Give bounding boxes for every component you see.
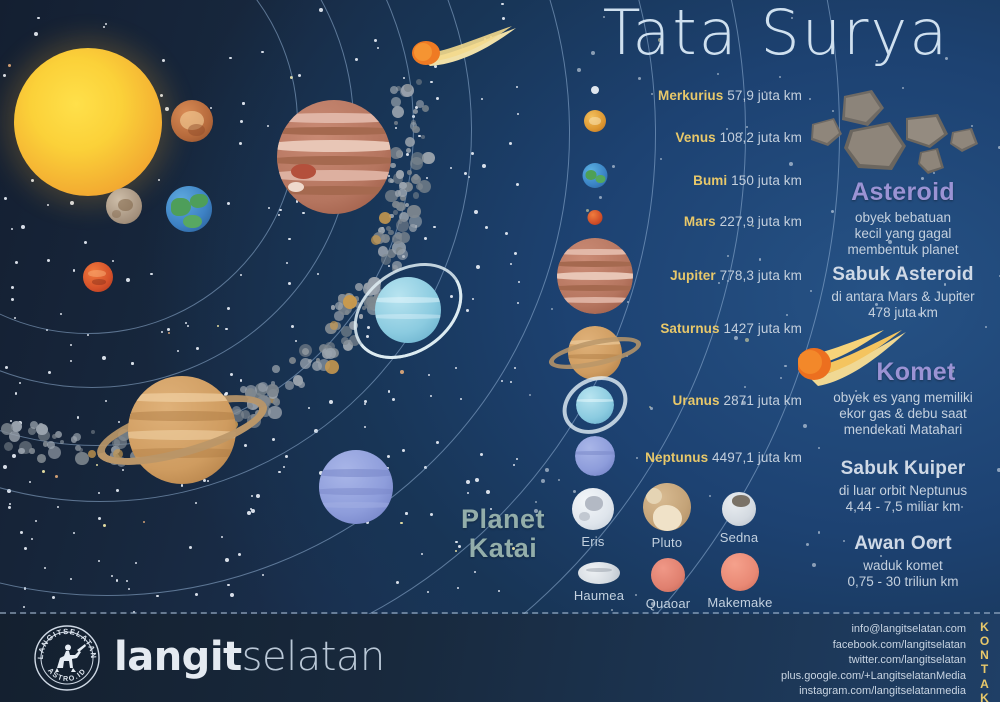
dwarf-planet-heading: Planet Katai (438, 505, 568, 563)
section-line: mendekati Matahari (806, 422, 1000, 438)
dwarf-eris: Eris (562, 488, 624, 549)
dwarf-body (572, 488, 614, 530)
section-heading: Asteroid (806, 178, 1000, 207)
planet-name: Bumi (693, 173, 727, 188)
planet-row-venus: Venus 108,2 juta km (676, 130, 803, 145)
planet-name: Saturnus (660, 321, 719, 336)
section-line: kecil yang gagal (806, 226, 1000, 242)
section-heading: Sabuk Kuiper (806, 458, 1000, 480)
map-planet-neptune (319, 450, 393, 524)
planet-name: Mars (684, 214, 716, 229)
dwarf-body (721, 553, 759, 591)
planet-distance: 1427 juta km (724, 321, 803, 336)
planet-distance: 4497,1 juta km (712, 450, 802, 465)
planet-name: Merkurius (658, 88, 723, 103)
scale-venus (584, 110, 606, 132)
dwarf-body (722, 492, 756, 526)
section-heading: Komet (832, 358, 1000, 387)
planet-scale-column (540, 78, 650, 498)
planet-distance: 108,2 juta km (720, 130, 802, 145)
comet-illustration-map (412, 22, 524, 68)
footer-divider (0, 612, 1000, 614)
dwarf-label: Haumea (566, 588, 632, 603)
dwarf-label: Eris (562, 534, 624, 549)
map-planet-saturn-group (128, 376, 236, 484)
map-planet-earth (166, 186, 212, 232)
great-red-spot (291, 164, 316, 179)
section-line: 0,75 - 30 triliun km (806, 574, 1000, 590)
map-planet-uranus-group (375, 277, 441, 343)
dwarf-quaoar: Quaoar (636, 558, 700, 611)
scale-uranus-ring (552, 365, 638, 446)
scale-earth (583, 163, 608, 188)
planet-row-saturnus: Saturnus 1427 juta km (660, 321, 802, 336)
section-awan-oort: Awan Oort waduk komet 0,75 - 30 triliun … (806, 533, 1000, 590)
planet-row-merkurius: Merkurius 57,9 juta km (658, 88, 802, 103)
sun-illustration (14, 48, 162, 196)
dwarf-label: Makemake (702, 595, 778, 610)
dwarf-body (651, 558, 685, 592)
section-heading: Awan Oort (806, 533, 1000, 555)
section-heading: Sabuk Asteroid (806, 264, 1000, 286)
planet-row-neptunus: Neptunus 4497,1 juta km (645, 450, 802, 465)
contact-facebook[interactable]: facebook.com/langitselatan (781, 638, 966, 654)
contact-email[interactable]: info@langitselatan.com (781, 622, 966, 638)
dwarf-haumea: Haumea (566, 562, 632, 603)
contact-list: info@langitselatan.com facebook.com/lang… (781, 622, 966, 700)
section-line: di antara Mars & Jupiter (806, 289, 1000, 305)
planet-name: Uranus (673, 393, 720, 408)
planet-name: Venus (676, 130, 716, 145)
brand-light: selatan (242, 634, 385, 680)
planet-distance: 778,3 juta km (720, 268, 802, 283)
kontak-vertical-label: KONTAK (976, 620, 994, 702)
section-line: di luar orbit Neptunus (806, 483, 1000, 499)
brand-wordmark: langitselatan (114, 634, 385, 680)
contact-twitter[interactable]: twitter.com/langitselatan (781, 653, 966, 669)
section-komet: Komet obyek es yang memiliki ekor gas & … (806, 358, 1000, 438)
scale-mars (588, 210, 603, 225)
section-line: obyek bebatuan (806, 210, 1000, 226)
map-planet-venus (171, 100, 213, 142)
planet-row-uranus: Uranus 2871 juta km (673, 393, 802, 408)
map-planet-jupiter (277, 100, 391, 214)
dwarf-pluto: Pluto (634, 483, 700, 550)
infographic-poster: Merkurius 57,9 juta km Venus 108,2 juta … (0, 0, 1000, 702)
section-line: 478 juta km (806, 305, 1000, 321)
planet-row-jupiter: Jupiter 778,3 juta km (670, 268, 802, 283)
dwarf-heading-line2: Katai (438, 534, 568, 563)
scale-neptune (575, 436, 615, 476)
planet-distance: 150 juta km (731, 173, 802, 188)
planet-distance: 57,9 juta km (727, 88, 802, 103)
section-sabuk-asteroid: Sabuk Asteroid di antara Mars & Jupiter … (806, 264, 1000, 321)
planet-distance: 227,9 juta km (720, 214, 802, 229)
dwarf-body (643, 483, 691, 531)
section-line: waduk komet (806, 558, 1000, 574)
map-planet-mars (83, 262, 113, 292)
svg-text:ASTRO.ID: ASTRO.ID (46, 666, 88, 683)
section-line: 4,44 - 7,5 miliar km (806, 499, 1000, 515)
langitselatan-logo[interactable]: LANGITSELATAN ASTRO.ID (33, 624, 101, 692)
contact-googleplus[interactable]: plus.google.com/+LangitselatanMedia (781, 669, 966, 685)
logo-text-bottom: ASTRO.ID (46, 666, 88, 683)
dwarf-body (578, 562, 620, 584)
section-line: membentuk planet (806, 242, 1000, 258)
dwarf-heading-line1: Planet (438, 505, 568, 534)
section-line: ekor gas & debu saat (806, 406, 1000, 422)
section-asteroid: Asteroid obyek bebatuan kecil yang gagal… (806, 178, 1000, 258)
section-line: obyek es yang memiliki (806, 390, 1000, 406)
planet-row-mars: Mars 227,9 juta km (684, 214, 802, 229)
dwarf-label: Pluto (634, 535, 700, 550)
brand-bold: langit (114, 634, 242, 680)
dwarf-makemake: Makemake (702, 553, 778, 610)
dwarf-label: Sedna (708, 530, 770, 545)
map-planet-mercury (106, 188, 142, 224)
planet-name: Neptunus (645, 450, 708, 465)
page-title: Tata Surya (556, 0, 996, 69)
section-sabuk-kuiper: Sabuk Kuiper di luar orbit Neptunus 4,44… (806, 458, 1000, 515)
dwarf-label: Quaoar (636, 596, 700, 611)
scale-mercury (591, 86, 599, 94)
planet-name: Jupiter (670, 268, 716, 283)
contact-instagram[interactable]: instagram.com/langitselatanmedia (781, 684, 966, 700)
planet-distance: 2871 juta km (724, 393, 803, 408)
scale-jupiter (557, 238, 633, 314)
asteroid-rocks-illustration (810, 86, 996, 178)
planet-row-bumi: Bumi 150 juta km (693, 173, 802, 188)
dwarf-sedna: Sedna (708, 492, 770, 545)
